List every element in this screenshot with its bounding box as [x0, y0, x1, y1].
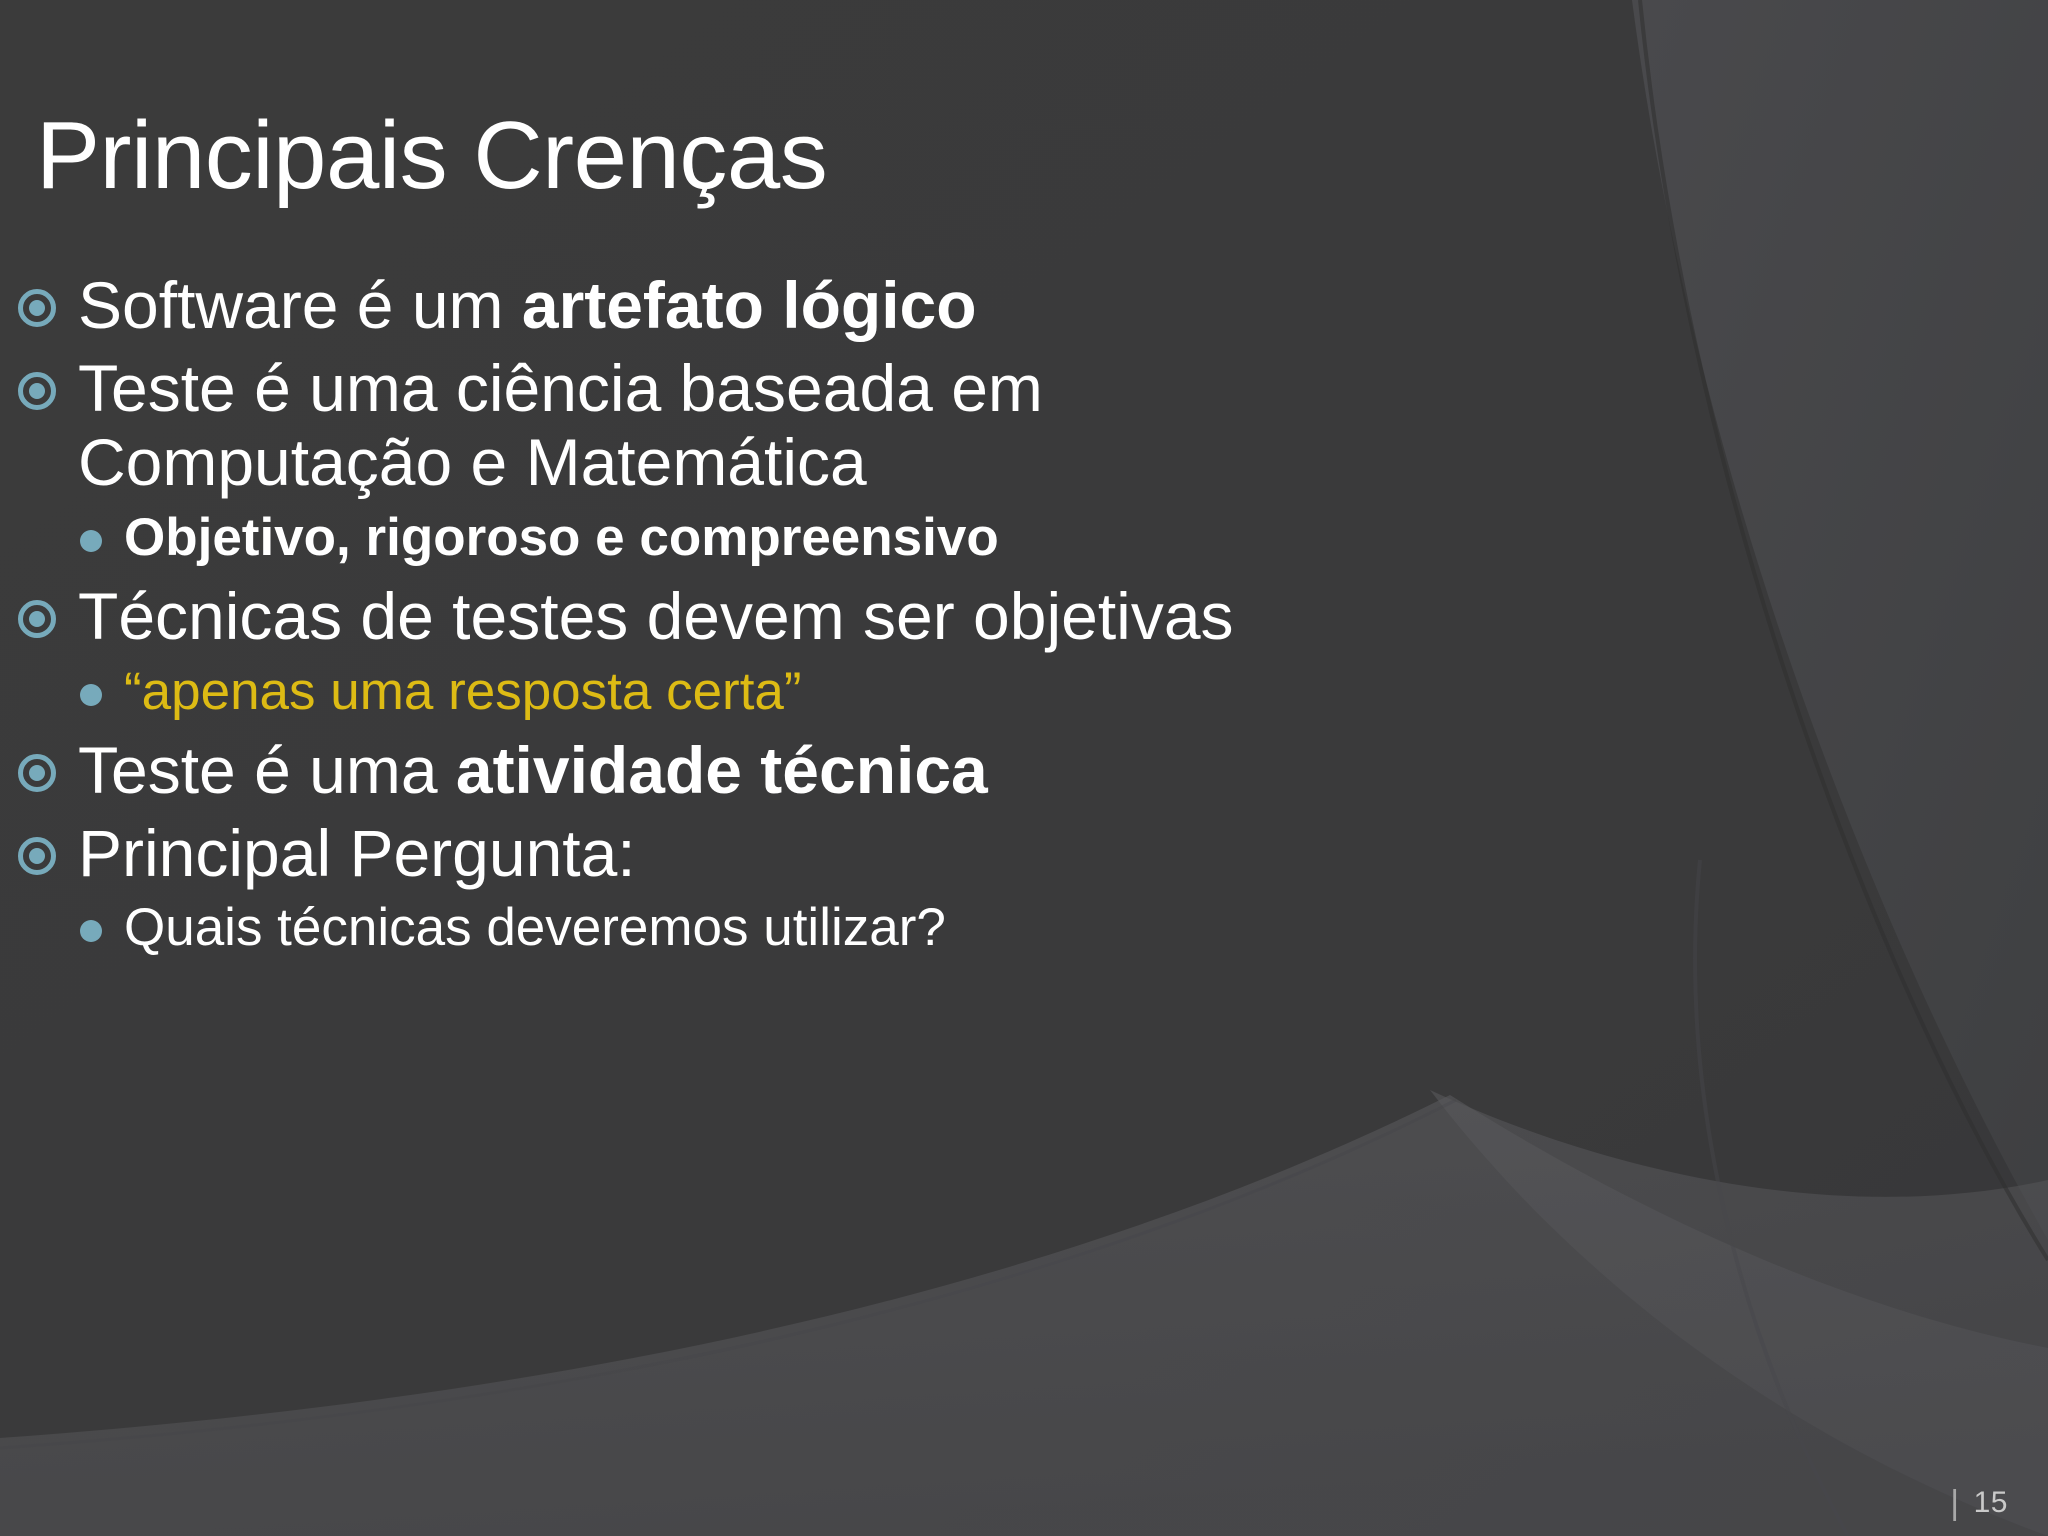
target-ring-bullet-icon — [18, 600, 56, 638]
slide: Principais Crenças Software é um artefat… — [0, 0, 2048, 1536]
list-item-label: Software é um artefato lógico — [56, 268, 977, 343]
sub-list-item-label: Quais técnicas deveremos utilizar? — [102, 898, 946, 957]
page-number: 15 — [1974, 1486, 2008, 1520]
footer-separator: | — [1950, 1486, 1959, 1520]
sub-list-item: Objetivo, rigoroso e compreensivo — [80, 508, 1458, 567]
list-item: Teste é uma atividade técnica — [18, 733, 1458, 808]
list-item-label: Principal Pergunta: — [56, 816, 636, 891]
sub-list-item-label: “apenas uma resposta certa” — [102, 662, 802, 721]
list-item: Software é um artefato lógico — [18, 268, 1458, 343]
sub-list-item: Quais técnicas deveremos utilizar? — [80, 898, 1458, 957]
sub-list-item-label: Objetivo, rigoroso e compreensivo — [102, 508, 999, 567]
sub-list-item: “apenas uma resposta certa” — [80, 662, 1458, 721]
target-ring-bullet-icon — [18, 372, 56, 410]
list-item-label: Teste é uma ciência baseada em Computaçã… — [56, 351, 1398, 500]
target-ring-bullet-icon — [18, 289, 56, 327]
slide-title: Principais Crenças — [36, 108, 1636, 204]
bullet-list: Software é um artefato lógico Teste é um… — [18, 268, 1458, 970]
dot-bullet-icon — [80, 684, 102, 706]
slide-footer: | 15 — [1950, 1486, 2008, 1520]
dot-bullet-icon — [80, 920, 102, 942]
list-item-label: Teste é uma atividade técnica — [56, 733, 988, 808]
target-ring-bullet-icon — [18, 837, 56, 875]
list-item: Técnicas de testes devem ser objetivas — [18, 579, 1458, 654]
list-item: Principal Pergunta: — [18, 816, 1458, 891]
target-ring-bullet-icon — [18, 754, 56, 792]
list-item: Teste é uma ciência baseada em Computaçã… — [18, 351, 1458, 500]
dot-bullet-icon — [80, 530, 102, 552]
list-item-label: Técnicas de testes devem ser objetivas — [56, 579, 1234, 654]
